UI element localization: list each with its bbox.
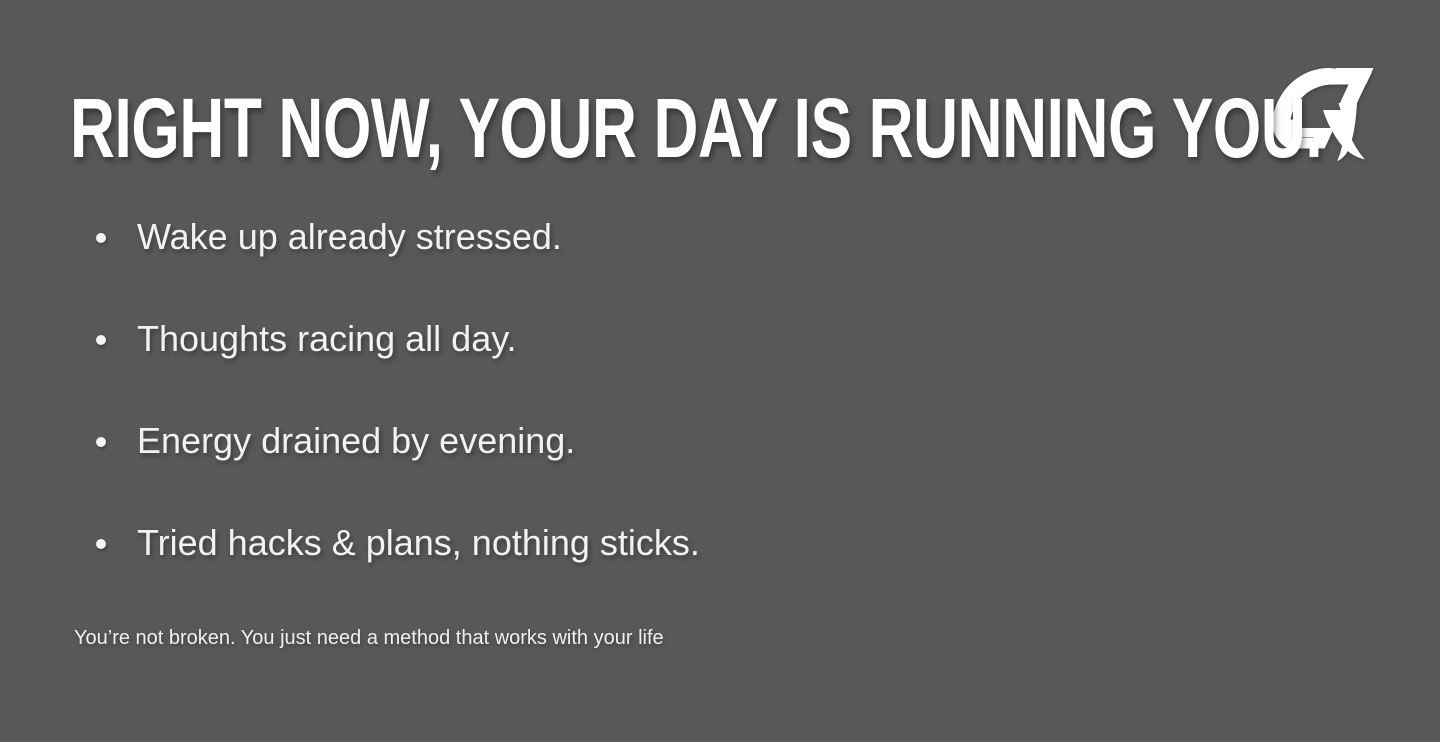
list-item-label: Tried hacks & plans, nothing sticks. [137, 518, 700, 568]
list-item-label: Energy drained by evening. [137, 416, 575, 466]
list-item-label: Thoughts racing all day. [137, 314, 517, 364]
bullet-list: Wake up already stressed. Thoughts racin… [96, 212, 1196, 620]
bullet-dot-icon [96, 437, 106, 447]
slide-title: RIGHT NOW, YOUR DAY IS RUNNING YOU. [70, 86, 1322, 170]
slide-canvas: RIGHT NOW, YOUR DAY IS RUNNING YOU. Wake… [0, 0, 1440, 742]
bullet-dot-icon [96, 233, 106, 243]
bullet-dot-icon [96, 539, 106, 549]
slide-footnote: You’re not broken. You just need a metho… [74, 624, 664, 652]
list-item: Wake up already stressed. [96, 212, 1196, 314]
list-item: Thoughts racing all day. [96, 314, 1196, 416]
list-item-label: Wake up already stressed. [137, 212, 562, 262]
list-item: Tried hacks & plans, nothing sticks. [96, 518, 1196, 620]
bullet-dot-icon [96, 335, 106, 345]
list-item: Energy drained by evening. [96, 416, 1196, 518]
